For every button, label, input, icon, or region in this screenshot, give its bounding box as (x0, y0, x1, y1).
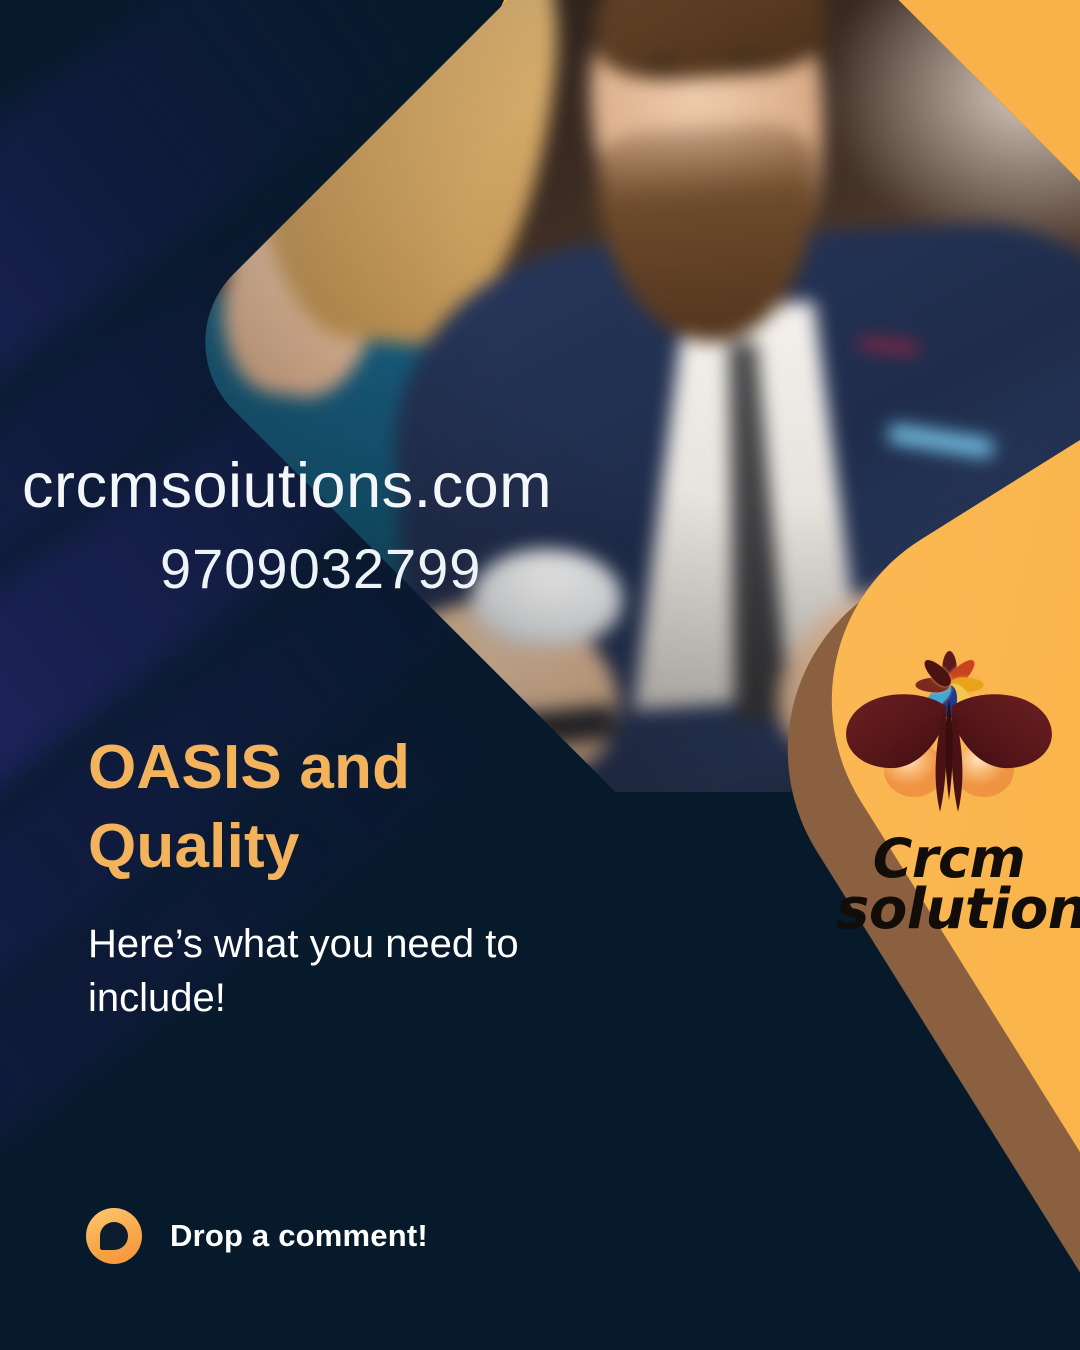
brand-name: Crcm solutions (836, 834, 1062, 935)
brand-name-line2: solutions (836, 884, 1062, 936)
website-url: crcmsoiutions.com (22, 450, 552, 522)
butterfly-icon (836, 682, 1062, 832)
phone-number: 9709032799 (160, 536, 481, 601)
cta-label: Drop a comment! (170, 1218, 428, 1254)
butterfly-flower-icon (836, 640, 1062, 840)
page-title: OASIS and Quality (88, 728, 568, 887)
comment-bubble-icon (86, 1208, 142, 1264)
cta-drop-a-comment[interactable]: Drop a comment! (86, 1208, 428, 1264)
social-media-poster: Crcm solutions crcmsoiutions.com 9709032… (0, 0, 1080, 1350)
brand-logo: Crcm solutions (836, 640, 1062, 958)
subheadline: Here’s what you need to include! (88, 918, 558, 1025)
